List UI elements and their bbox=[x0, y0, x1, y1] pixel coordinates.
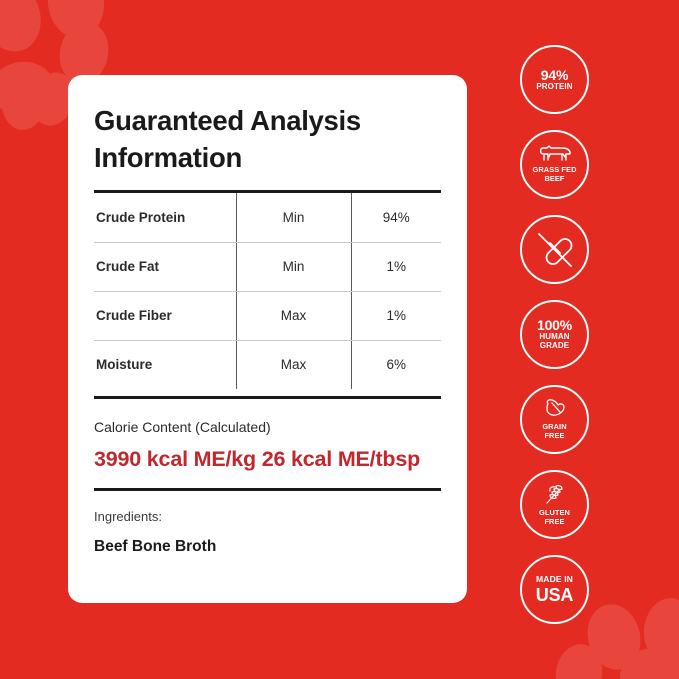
paw-toe bbox=[0, 0, 50, 59]
badge-protein: 94% PROTEIN bbox=[520, 45, 589, 114]
nutrient-name: Moisture bbox=[94, 340, 236, 389]
ingredients-label: Ingredients: bbox=[94, 509, 441, 524]
nutrient-limit: Max bbox=[236, 340, 351, 389]
nutrient-name: Crude Fat bbox=[94, 242, 236, 291]
badge-grain-free: GRAIN FREE bbox=[520, 385, 589, 454]
badge-human-grade: 100% HUMAN GRADE bbox=[520, 300, 589, 369]
nutrient-limit: Max bbox=[236, 291, 351, 340]
feature-badge-list: 94% PROTEIN GRASS FED BEEF bbox=[512, 45, 597, 640]
badge-made-in-usa-text: USA bbox=[536, 586, 573, 604]
table-row: Crude Fiber Max 1% bbox=[94, 291, 441, 340]
table-row: Crude Protein Min 94% bbox=[94, 193, 441, 242]
card-title-line1: Guaranteed Analysis bbox=[94, 103, 441, 140]
badge-grass-fed-beef: GRASS FED BEEF bbox=[520, 130, 589, 199]
badge-human-grade-line2: GRADE bbox=[540, 342, 569, 351]
badge-protein-label: PROTEIN bbox=[536, 83, 572, 92]
paw-pad bbox=[617, 645, 679, 679]
nutrient-value: 6% bbox=[351, 340, 441, 389]
product-info-graphic: Guaranteed Analysis Information Crude Pr… bbox=[0, 0, 679, 679]
badge-grain-free-line2: FREE bbox=[544, 432, 564, 441]
badge-gluten-free-line2: FREE bbox=[544, 518, 564, 527]
nutrient-name: Crude Protein bbox=[94, 193, 236, 242]
badge-made-in-usa: MADE IN USA bbox=[520, 555, 589, 624]
table-row: Moisture Max 6% bbox=[94, 340, 441, 389]
guaranteed-analysis-card: Guaranteed Analysis Information Crude Pr… bbox=[68, 75, 467, 603]
paw-toe bbox=[551, 640, 606, 679]
paw-toe bbox=[0, 70, 49, 132]
paw-pad bbox=[0, 58, 57, 118]
nutrient-value: 94% bbox=[351, 193, 441, 242]
divider-after-table bbox=[94, 396, 441, 399]
divider-after-calorie bbox=[94, 488, 441, 491]
no-grain-icon bbox=[543, 398, 567, 419]
calorie-content-label: Calorie Content (Calculated) bbox=[94, 419, 441, 435]
page-title: Guaranteed Analysis Information bbox=[94, 103, 441, 176]
badge-grass-fed-line2: BEEF bbox=[544, 175, 564, 184]
nutrient-value: 1% bbox=[351, 291, 441, 340]
card-title-line2: Information bbox=[94, 140, 441, 177]
nutrient-limit: Min bbox=[236, 242, 351, 291]
nutrient-limit: Min bbox=[236, 193, 351, 242]
table-row: Crude Fat Min 1% bbox=[94, 242, 441, 291]
calorie-content-value: 3990 kcal ME/kg 26 kcal ME/tbsp bbox=[94, 447, 441, 472]
paw-toe bbox=[640, 595, 679, 665]
guaranteed-analysis-table: Crude Protein Min 94% Crude Fat Min 1% C… bbox=[94, 193, 441, 389]
nutrient-name: Crude Fiber bbox=[94, 291, 236, 340]
nutrient-value: 1% bbox=[351, 242, 441, 291]
cow-icon bbox=[538, 145, 572, 162]
badge-protein-percent: 94% bbox=[541, 68, 568, 82]
badge-no-additives bbox=[520, 215, 589, 284]
badge-gluten-free: GLUTEN FREE bbox=[520, 470, 589, 539]
ingredients-value: Beef Bone Broth bbox=[94, 538, 441, 556]
wheat-icon bbox=[543, 483, 567, 505]
no-pill-icon bbox=[532, 227, 578, 273]
badge-made-in-line1: MADE IN bbox=[536, 575, 573, 585]
badge-human-grade-percent: 100% bbox=[537, 318, 572, 332]
paw-toe bbox=[44, 0, 107, 41]
